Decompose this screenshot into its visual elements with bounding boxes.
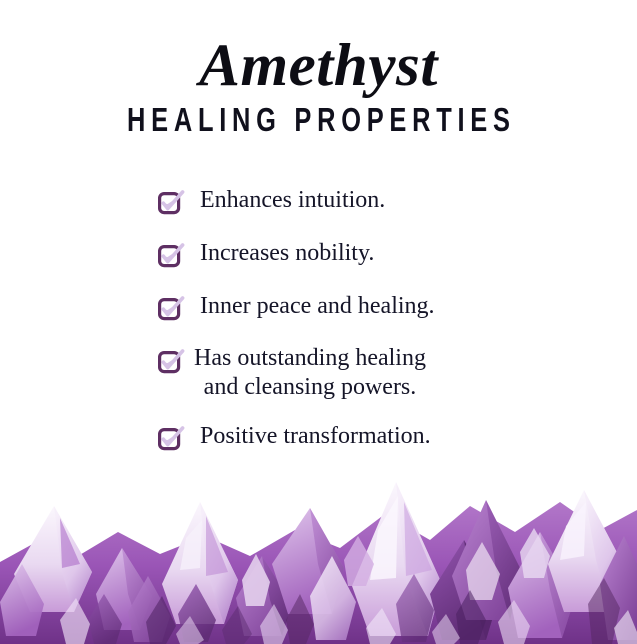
checkbox-checked-icon xyxy=(158,190,184,216)
checkbox-checked-icon xyxy=(158,349,184,375)
page-title: Amethyst xyxy=(0,34,637,96)
list-item: Enhances intuition. xyxy=(158,180,588,216)
list-item: Has outstanding healing and cleansing po… xyxy=(158,339,588,402)
list-item: Inner peace and healing. xyxy=(158,286,588,322)
list-item-label: Inner peace and healing. xyxy=(200,286,435,321)
header: Amethyst HEALING PROPERTIES xyxy=(0,0,637,136)
amethyst-crystal-cluster-photo xyxy=(0,444,637,644)
page-subtitle: HEALING PROPERTIES xyxy=(57,102,579,139)
checkbox-checked-icon xyxy=(158,243,184,269)
list-item-label: Has outstanding healing and cleansing po… xyxy=(194,339,426,402)
poster-canvas: Amethyst HEALING PROPERTIES Enhances int… xyxy=(0,0,637,644)
list-item-label: Enhances intuition. xyxy=(200,180,385,215)
benefits-list: Enhances intuition. Increases nobility. xyxy=(158,180,588,469)
checkbox-checked-icon xyxy=(158,296,184,322)
list-item-label: Increases nobility. xyxy=(200,233,374,268)
list-item: Increases nobility. xyxy=(158,233,588,269)
